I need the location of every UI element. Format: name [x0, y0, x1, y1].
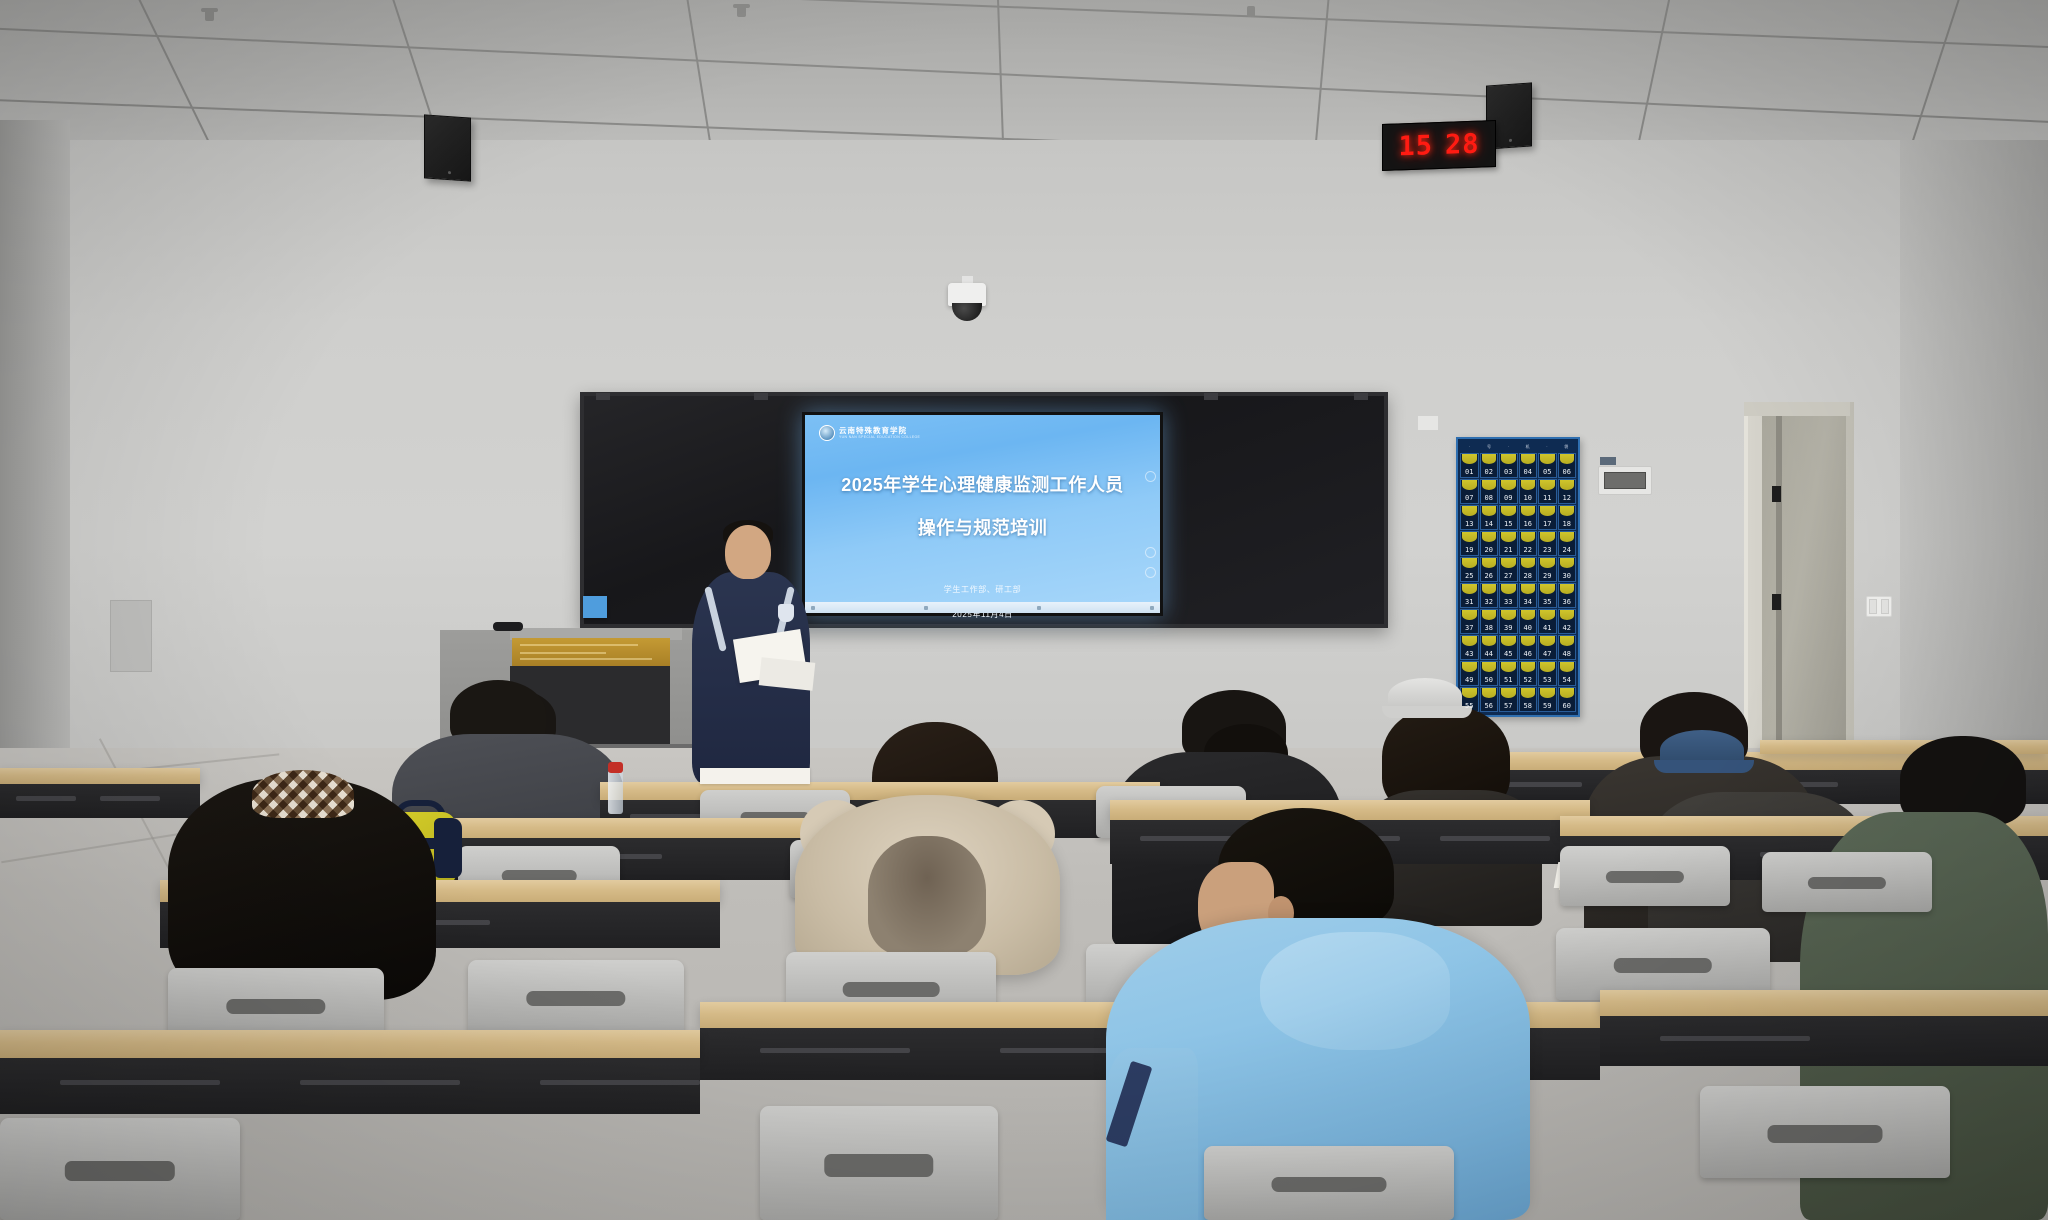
pocket-chart-cell[interactable]: 16 — [1519, 505, 1538, 530]
pocket-pouch — [1521, 480, 1536, 490]
pocket-pouch — [1560, 454, 1575, 464]
pocket-chart-cell[interactable]: 26 — [1480, 557, 1499, 582]
pocket-number: 59 — [1543, 702, 1551, 711]
ceiling — [0, 0, 2048, 150]
college-logo: 云南特殊教育学院 YUN NAN SPECIAL EDUCATION COLLE… — [819, 425, 920, 441]
chair[interactable] — [760, 1106, 998, 1220]
pocket-chart-cell[interactable]: 01 — [1460, 453, 1479, 478]
pocket-number: 10 — [1524, 494, 1532, 503]
pocket-chart-row: 373839404142 — [1460, 609, 1576, 634]
control-panel-label — [1600, 457, 1616, 465]
pocket-chart-cell[interactable]: 56 — [1480, 687, 1499, 712]
pocket-chart-cell[interactable]: 38 — [1480, 609, 1499, 634]
clock-hours: 15 — [1398, 130, 1433, 162]
pocket-pouch — [1540, 480, 1555, 490]
pocket-number: 49 — [1465, 676, 1473, 685]
pocket-number: 58 — [1524, 702, 1532, 711]
chair-handle — [1614, 958, 1712, 972]
pocket-pouch — [1540, 662, 1555, 672]
door-header — [1744, 402, 1850, 416]
pocket-chart-cell[interactable]: 46 — [1519, 635, 1538, 660]
desk — [1600, 990, 2048, 1016]
pocket-chart-cell[interactable]: 34 — [1519, 583, 1538, 608]
pocket-chart-cell[interactable]: 53 — [1538, 661, 1557, 686]
right-wall-shading — [1900, 140, 2048, 780]
pocket-number: 41 — [1543, 624, 1551, 633]
pocket-chart-cell[interactable]: 60 — [1558, 687, 1577, 712]
taskbar-icon[interactable] — [924, 606, 928, 610]
pocket-chart-cell[interactable]: 05 — [1538, 453, 1557, 478]
pocket-pouch — [1482, 688, 1497, 698]
pocket-pouch — [1521, 558, 1536, 568]
pocket-pouch — [1540, 558, 1555, 568]
pocket-number: 55 — [1465, 702, 1473, 711]
pocket-chart-cell[interactable]: 52 — [1519, 661, 1538, 686]
pocket-number: 05 — [1543, 468, 1551, 477]
pocket-pouch — [1501, 584, 1516, 594]
pocket-pouch — [1560, 480, 1575, 490]
pocket-chart-cell[interactable]: 51 — [1499, 661, 1518, 686]
pocket-chart-cell[interactable]: 48 — [1558, 635, 1577, 660]
chair-handle — [1768, 1125, 1883, 1143]
pocket-chart-cell[interactable]: 10 — [1519, 479, 1538, 504]
pocket-chart-cell[interactable]: 36 — [1558, 583, 1577, 608]
chair-handle — [843, 982, 940, 996]
wall-recess-panel — [110, 600, 152, 672]
pocket-chart-cell[interactable]: 30 — [1558, 557, 1577, 582]
desk — [0, 1030, 700, 1058]
pocket-chart-cell[interactable]: 44 — [1480, 635, 1499, 660]
light-switch-icon[interactable] — [1869, 599, 1877, 614]
presenter-logo-icon — [778, 604, 794, 622]
classroom-photo-scene: 15 28 云南特殊教育学院 YUN NAN SPECIAL EDUCATION… — [0, 0, 2048, 1220]
pocket-pouch — [1501, 506, 1516, 516]
speaker-led-icon — [448, 171, 451, 174]
pocket-pouch — [1521, 610, 1536, 620]
sprinkler-head-icon — [737, 4, 746, 17]
pocket-pouch — [1521, 662, 1536, 672]
pocket-number: 14 — [1485, 520, 1493, 529]
control-panel-screen — [1604, 472, 1646, 489]
pocket-number: 50 — [1485, 676, 1493, 685]
pocket-chart-cell[interactable]: 58 — [1519, 687, 1538, 712]
pocket-chart-cell[interactable]: 18 — [1558, 505, 1577, 530]
pocket-pouch — [1462, 688, 1477, 698]
display-side-button[interactable] — [1145, 547, 1156, 558]
pocket-number: 03 — [1504, 468, 1512, 477]
slide-department: 学生工作部、研工部 — [944, 584, 1021, 595]
pocket-chart-cell[interactable]: 13 — [1460, 505, 1479, 530]
logo-text-cn: 云南特殊教育学院 — [839, 427, 920, 435]
pocket-chart-header-label: 机 — [1518, 441, 1537, 453]
pocket-number: 27 — [1504, 572, 1512, 581]
pocket-number: 19 — [1465, 546, 1473, 555]
water-bottle — [608, 770, 623, 814]
jacket-hood — [1260, 932, 1450, 1050]
pocket-chart-cell[interactable]: 50 — [1480, 661, 1499, 686]
pocket-number: 22 — [1524, 546, 1532, 555]
pocket-number: 33 — [1504, 598, 1512, 607]
pocket-chart-cell[interactable]: 47 — [1538, 635, 1557, 660]
taskbar-icon[interactable] — [1037, 606, 1041, 610]
pocket-number: 35 — [1543, 598, 1551, 607]
pocket-number: 38 — [1485, 624, 1493, 633]
pocket-chart-cell[interactable]: 41 — [1538, 609, 1557, 634]
pocket-number: 60 — [1563, 702, 1571, 711]
pocket-chart-header: ·号·机·袋 — [1460, 441, 1576, 453]
pocket-pouch — [1540, 610, 1555, 620]
pocket-pouch — [1462, 584, 1477, 594]
pocket-chart-header-label: · — [1460, 441, 1479, 453]
pocket-pouch — [1462, 532, 1477, 542]
pocket-chart-header-label: · — [1499, 441, 1518, 453]
pocket-chart-row: 252627282930 — [1460, 557, 1576, 582]
pocket-number: 43 — [1465, 650, 1473, 659]
pocket-chart-row: 131415161718 — [1460, 505, 1576, 530]
pocket-pouch — [1540, 584, 1555, 594]
pocket-chart-cell[interactable]: 02 — [1480, 453, 1499, 478]
pocket-pouch — [1482, 558, 1497, 568]
pocket-pouch — [1560, 584, 1575, 594]
clock-minutes: 28 — [1445, 129, 1480, 161]
pocket-chart-cell[interactable]: 25 — [1460, 557, 1479, 582]
pocket-pouch — [1462, 558, 1477, 568]
lectern-blue-device — [583, 596, 607, 618]
lectern-panel — [512, 638, 670, 666]
pocket-chart-cell[interactable]: 19 — [1460, 531, 1479, 556]
pocket-pouch — [1540, 506, 1555, 516]
pocket-pouch — [1560, 532, 1575, 542]
pocket-number: 07 — [1465, 494, 1473, 503]
pocket-number: 48 — [1563, 650, 1571, 659]
pocket-pouch — [1462, 480, 1477, 490]
pocket-number: 52 — [1524, 676, 1532, 685]
pocket-number: 42 — [1563, 624, 1571, 633]
pocket-number: 29 — [1543, 572, 1551, 581]
left-wall — [0, 120, 70, 780]
pocket-chart-cell[interactable]: 31 — [1460, 583, 1479, 608]
desk — [0, 768, 200, 784]
microphone-icon — [493, 622, 523, 631]
logo-seal-icon — [819, 425, 835, 441]
pocket-pouch — [1482, 480, 1497, 490]
display-taskbar[interactable] — [805, 602, 1160, 613]
pocket-chart-row: 495051525354 — [1460, 661, 1576, 686]
pocket-chart-row: 192021222324 — [1460, 531, 1576, 556]
pocket-pouch — [1501, 688, 1516, 698]
pocket-number: 12 — [1563, 494, 1571, 503]
chair[interactable] — [1700, 1086, 1950, 1178]
pocket-number: 32 — [1485, 598, 1493, 607]
slide-title-line2: 操作与规范培训 — [918, 514, 1048, 540]
pocket-pouch — [1482, 532, 1497, 542]
pocket-pouch — [1462, 636, 1477, 646]
pocket-number: 53 — [1543, 676, 1551, 685]
pocket-pouch — [1540, 532, 1555, 542]
pocket-chart-cell[interactable]: 57 — [1499, 687, 1518, 712]
pocket-pouch — [1462, 662, 1477, 672]
pocket-pouch — [1501, 532, 1516, 542]
chair-handle — [1272, 1177, 1387, 1192]
pocket-chart-cell[interactable]: 59 — [1538, 687, 1557, 712]
pocket-chart-cell[interactable]: 43 — [1460, 635, 1479, 660]
pocket-chart-header-label: 袋 — [1557, 441, 1576, 453]
pocket-pouch — [1462, 454, 1477, 464]
chair-handle — [65, 1161, 175, 1181]
plaid-bucket-hat — [252, 770, 354, 818]
pocket-pouch — [1521, 532, 1536, 542]
pocket-chart-cell[interactable]: 54 — [1558, 661, 1577, 686]
pocket-pouch — [1482, 610, 1497, 620]
pocket-number: 26 — [1485, 572, 1493, 581]
pocket-chart-cell[interactable]: 12 — [1558, 479, 1577, 504]
pocket-number: 21 — [1504, 546, 1512, 555]
chair-handle — [226, 999, 325, 1014]
pocket-pouch — [1501, 662, 1516, 672]
chair[interactable] — [1204, 1146, 1454, 1220]
pocket-number: 40 — [1524, 624, 1532, 633]
pocket-chart-header-label: 号 — [1479, 441, 1498, 453]
pocket-chart-row: 010203040506 — [1460, 453, 1576, 478]
pocket-pouch — [1521, 454, 1536, 464]
pocket-pouch — [1482, 584, 1497, 594]
pocket-number: 45 — [1504, 650, 1512, 659]
pocket-pouch — [1501, 454, 1516, 464]
pocket-chart-cell[interactable]: 07 — [1460, 479, 1479, 504]
pocket-pouch — [1560, 662, 1575, 672]
fur-coat-hair — [868, 836, 986, 956]
pocket-chart-cell[interactable]: 39 — [1499, 609, 1518, 634]
pocket-chart-row: 555657585960 — [1460, 687, 1576, 712]
chair-handle — [1808, 877, 1886, 889]
pocket-chart-cell[interactable]: 24 — [1558, 531, 1577, 556]
pocket-number: 20 — [1485, 546, 1493, 555]
chair[interactable] — [0, 1118, 240, 1220]
pocket-chart-cell[interactable]: 20 — [1480, 531, 1499, 556]
chair[interactable] — [468, 960, 684, 1034]
light-switch-plate[interactable] — [1866, 596, 1892, 617]
pocket-chart-cell[interactable]: 23 — [1538, 531, 1557, 556]
pocket-pouch — [1501, 558, 1516, 568]
cap-brim — [1382, 706, 1472, 718]
pocket-chart-cell[interactable]: 32 — [1480, 583, 1499, 608]
pocket-chart-cell[interactable]: 03 — [1499, 453, 1518, 478]
sprinkler-head-icon — [1247, 6, 1255, 17]
pocket-pouch — [1540, 454, 1555, 464]
display-side-button[interactable] — [1145, 567, 1156, 578]
logo-text-en: YUN NAN SPECIAL EDUCATION COLLEGE — [839, 436, 920, 439]
chair-handle — [1606, 871, 1684, 883]
pocket-pouch — [1540, 688, 1555, 698]
pocket-number: 44 — [1485, 650, 1493, 659]
presenter-papers — [759, 657, 816, 690]
pocket-number: 56 — [1485, 702, 1493, 711]
pocket-number: 34 — [1524, 598, 1532, 607]
pocket-pouch — [1482, 636, 1497, 646]
pocket-chart-cell[interactable]: 35 — [1538, 583, 1557, 608]
pocket-chart-row: 070809101112 — [1460, 479, 1576, 504]
pocket-pouch — [1482, 506, 1497, 516]
pocket-number: 04 — [1524, 468, 1532, 477]
chair-handle — [824, 1154, 933, 1177]
pocket-number: 28 — [1524, 572, 1532, 581]
pocket-number: 36 — [1563, 598, 1571, 607]
pocket-pouch — [1540, 636, 1555, 646]
wall-speaker-left — [424, 114, 471, 181]
desk-front — [0, 1058, 700, 1114]
chair[interactable] — [1762, 852, 1932, 912]
pocket-chart-cell[interactable]: 15 — [1499, 505, 1518, 530]
cap-brim — [1654, 760, 1754, 773]
pocket-chart-cell[interactable]: 17 — [1538, 505, 1557, 530]
pocket-number: 46 — [1524, 650, 1532, 659]
pocket-chart-cell[interactable]: 08 — [1480, 479, 1499, 504]
papers — [700, 768, 810, 784]
pocket-pouch — [1521, 636, 1536, 646]
pocket-chart-cell[interactable]: 11 — [1538, 479, 1557, 504]
taskbar-icon[interactable] — [1150, 606, 1154, 610]
pocket-number: 57 — [1504, 702, 1512, 711]
pocket-number: 13 — [1465, 520, 1473, 529]
pocket-pouch — [1560, 506, 1575, 516]
phone-pocket-chart: ·号·机·袋 010203040506070809101112131415161… — [1456, 437, 1580, 717]
pocket-pouch — [1482, 454, 1497, 464]
pocket-number: 24 — [1563, 546, 1571, 555]
pocket-number: 54 — [1563, 676, 1571, 685]
pocket-chart-cell[interactable]: 28 — [1519, 557, 1538, 582]
pocket-chart-cell[interactable]: 04 — [1519, 453, 1538, 478]
pocket-chart-cell[interactable]: 06 — [1558, 453, 1577, 478]
pocket-number: 37 — [1465, 624, 1473, 633]
pocket-pouch — [1560, 558, 1575, 568]
pocket-chart-cell[interactable]: 45 — [1499, 635, 1518, 660]
pocket-number: 39 — [1504, 624, 1512, 633]
pocket-number: 01 — [1465, 468, 1473, 477]
pocket-pouch — [1521, 584, 1536, 594]
light-switch-icon[interactable] — [1881, 599, 1889, 614]
pocket-pouch — [1560, 610, 1575, 620]
desk — [600, 782, 1160, 800]
chair[interactable] — [1560, 846, 1730, 906]
pocket-number: 11 — [1543, 494, 1551, 503]
chair-handle — [526, 991, 625, 1006]
pocket-chart-cell[interactable]: 22 — [1519, 531, 1538, 556]
pocket-chart-cell[interactable]: 33 — [1499, 583, 1518, 608]
bottle-cap — [608, 762, 623, 773]
door-hinge-icon — [1772, 594, 1781, 610]
slide-title-line1: 2025年学生心理健康监测工作人员 — [841, 471, 1124, 497]
presenter-head — [725, 525, 771, 579]
pocket-pouch — [1560, 636, 1575, 646]
pocket-chart-cell[interactable]: 14 — [1480, 505, 1499, 530]
digital-wall-clock: 15 28 — [1382, 120, 1496, 171]
speaker-led-icon — [1509, 139, 1512, 142]
taskbar-icon[interactable] — [811, 606, 815, 610]
pocket-pouch — [1521, 688, 1536, 698]
pocket-chart-cell[interactable]: 49 — [1460, 661, 1479, 686]
desk-front — [0, 784, 200, 818]
pocket-number: 06 — [1563, 468, 1571, 477]
pocket-number: 02 — [1485, 468, 1493, 477]
pocket-number: 23 — [1543, 546, 1551, 555]
pocket-pouch — [1560, 688, 1575, 698]
pocket-chart-header-label: · — [1537, 441, 1556, 453]
pocket-chart-cell[interactable]: 40 — [1519, 609, 1538, 634]
sprinkler-head-icon — [205, 8, 214, 21]
pocket-pouch — [1501, 480, 1516, 490]
pocket-number: 08 — [1485, 494, 1493, 503]
pocket-number: 17 — [1543, 520, 1551, 529]
pocket-chart-cell[interactable]: 29 — [1538, 557, 1557, 582]
pocket-number: 30 — [1563, 572, 1571, 581]
pocket-chart-row: 313233343536 — [1460, 583, 1576, 608]
pocket-number: 25 — [1465, 572, 1473, 581]
pocket-number: 18 — [1563, 520, 1571, 529]
pocket-chart-cell[interactable]: 09 — [1499, 479, 1518, 504]
room-control-panel[interactable] — [1598, 466, 1652, 495]
pocket-pouch — [1482, 662, 1497, 672]
pocket-number: 16 — [1524, 520, 1532, 529]
pocket-chart-cell[interactable]: 21 — [1499, 531, 1518, 556]
pocket-chart-cell[interactable]: 37 — [1460, 609, 1479, 634]
pocket-pouch — [1462, 610, 1477, 620]
pocket-number: 15 — [1504, 520, 1512, 529]
pocket-pouch — [1521, 506, 1536, 516]
wall-fixture — [1418, 416, 1438, 430]
pocket-chart-cell[interactable]: 42 — [1558, 609, 1577, 634]
pocket-number: 51 — [1504, 676, 1512, 685]
pocket-pouch — [1462, 506, 1477, 516]
desk-front — [1600, 1016, 2048, 1066]
pocket-chart-row: 434445464748 — [1460, 635, 1576, 660]
display-side-button[interactable] — [1145, 471, 1156, 482]
pocket-pouch — [1501, 636, 1516, 646]
pocket-chart-cell[interactable]: 27 — [1499, 557, 1518, 582]
presentation-display[interactable]: 云南特殊教育学院 YUN NAN SPECIAL EDUCATION COLLE… — [802, 412, 1163, 616]
pocket-number: 09 — [1504, 494, 1512, 503]
pocket-number: 31 — [1465, 598, 1473, 607]
door-hinge-icon — [1772, 486, 1781, 502]
pocket-pouch — [1501, 610, 1516, 620]
pocket-number: 47 — [1543, 650, 1551, 659]
